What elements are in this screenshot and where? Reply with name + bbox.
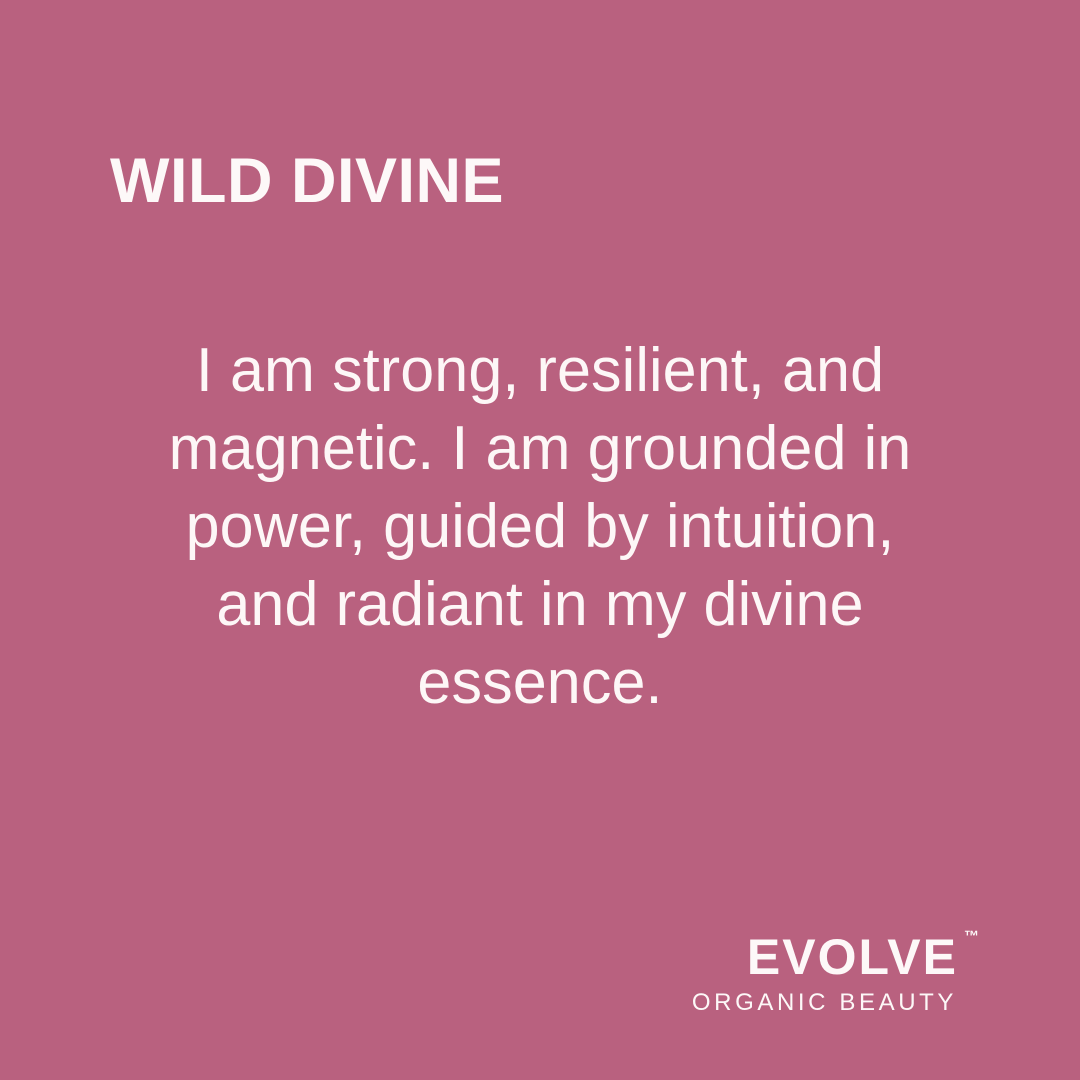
affirmation-quote: I am strong, resilient, and magnetic. I … [97, 332, 984, 722]
brand-wordmark-text: EVOLVE [747, 929, 958, 985]
quote-line: essence. [97, 644, 984, 722]
quote-line: power, guided by intuition, [97, 488, 984, 566]
quote-line: and radiant in my divine [97, 566, 984, 644]
quote-line: magnetic. I am grounded in [97, 410, 984, 488]
quote-line: I am strong, resilient, and [97, 332, 984, 410]
page-title: WILD DIVINE [110, 150, 970, 213]
affirmation-card: WILD DIVINE I am strong, resilient, and … [0, 0, 1080, 1080]
brand-wordmark: EVOLVE ™ [747, 931, 958, 983]
brand-logo: EVOLVE ™ ORGANIC BEAUTY [692, 931, 958, 1016]
trademark-icon: ™ [964, 929, 979, 944]
brand-tagline: ORGANIC BEAUTY [692, 990, 958, 1016]
